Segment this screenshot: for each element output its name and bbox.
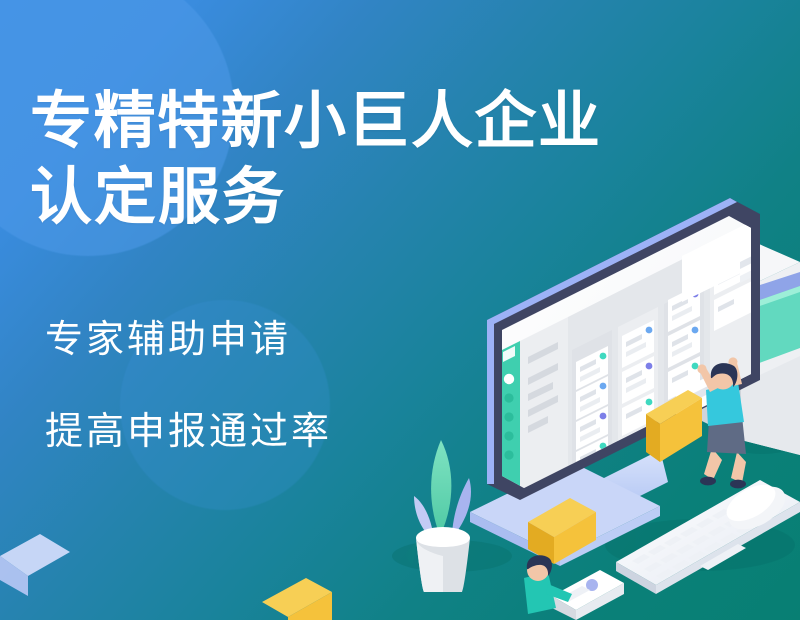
sidebar-nav-dot xyxy=(504,450,513,459)
shoe xyxy=(700,477,716,486)
sidebar-nav-dot xyxy=(504,412,513,421)
card-status-dot xyxy=(692,363,699,370)
shoe xyxy=(730,480,746,489)
card-status-dot xyxy=(646,363,653,370)
subheadline-item-2: 提高申报通过率 xyxy=(45,410,332,454)
card-status-dot xyxy=(600,383,607,390)
hand xyxy=(697,364,706,373)
card-status-dot xyxy=(692,327,699,334)
headline-block: 专精特新小巨人企业 认定服务 xyxy=(30,84,775,236)
sticky-note xyxy=(262,578,332,620)
leg xyxy=(704,448,722,480)
subheadline-block: 专家辅助申请 提高申报通过率 xyxy=(45,318,332,454)
card-status-dot xyxy=(646,399,653,406)
person-standing xyxy=(697,357,746,488)
plant xyxy=(404,440,471,592)
sidebar-nav-dot xyxy=(504,431,513,440)
leaf xyxy=(431,440,451,536)
promo-banner: 专精特新小巨人企业 认定服务 专家辅助申请 提高申报通过率 xyxy=(0,0,800,620)
person-laptop xyxy=(524,555,624,620)
sidebar-nav-dot-active xyxy=(504,374,514,384)
leg xyxy=(731,452,746,483)
laptop-corner-partial xyxy=(0,534,70,596)
headline-line-1: 专精特新小巨人企业 xyxy=(30,84,775,160)
subheadline-item-1: 专家辅助申请 xyxy=(45,318,332,362)
card-status-dot xyxy=(600,353,607,360)
sidebar-nav-dot xyxy=(504,393,513,402)
card-status-dot xyxy=(646,327,653,334)
card-status-dot xyxy=(600,413,607,420)
headline-line-2: 认定服务 xyxy=(30,160,775,236)
